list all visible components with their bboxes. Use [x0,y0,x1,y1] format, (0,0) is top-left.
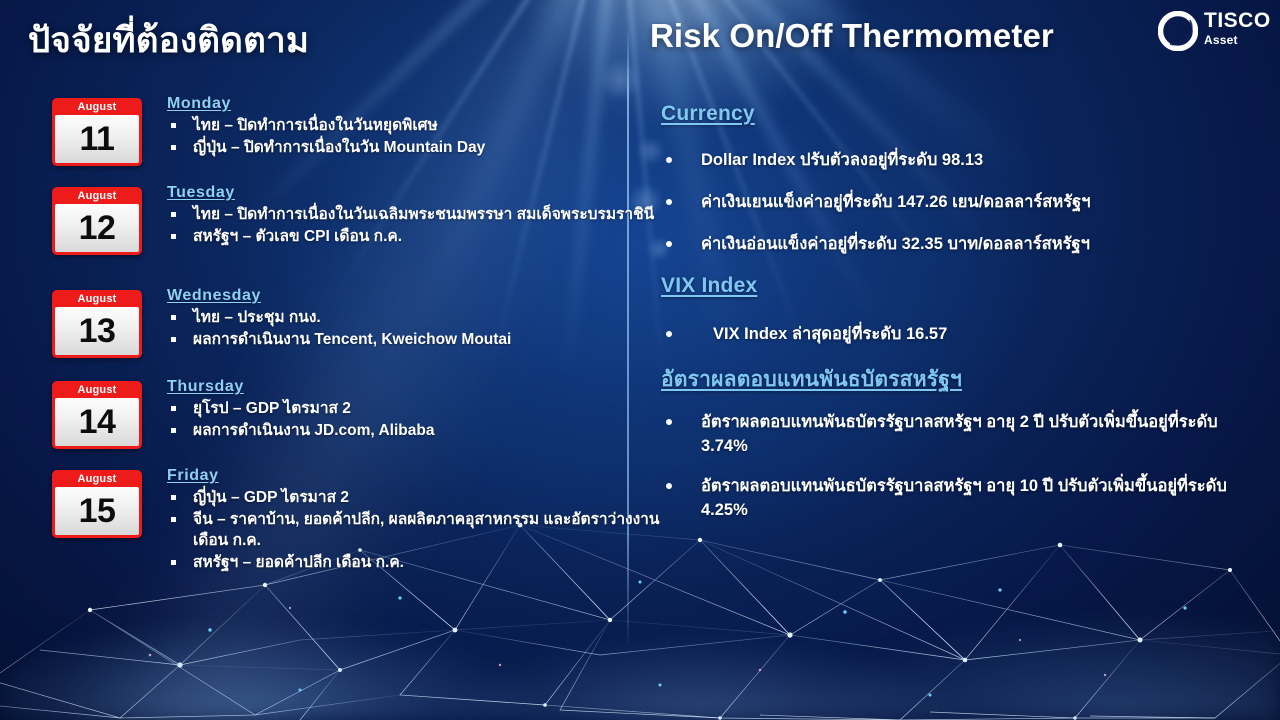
calendar-event-content: Fridayญี่ปุ่น – GDP ไตรมาส 2จีน – ราคาบ้… [167,467,667,574]
metric-list-item: อัตราผลตอบแทนพันธบัตรรัฐบาลสหรัฐฯ อายุ 1… [661,474,1236,522]
event-list-item: ไทย – ปิดทำการเนื่องในวันเฉลิมพระชนมพรรษ… [167,204,667,225]
section-heading: VIX Index [661,274,757,298]
section-heading: อัตราผลตอบแทนพันธบัตรสหรัฐฯ [661,363,962,396]
event-list-item: ไทย – ปิดทำการเนื่องในวันหยุดพิเศษ [167,115,667,136]
event-list-item: ยุโรป – GDP ไตรมาส 2 [167,398,667,419]
calendar-month-label: August [55,189,139,204]
event-list-item: ญี่ปุ่น – ปิดทำการเนื่องในวัน Mountain D… [167,137,667,158]
calendar-day-number: 13 [79,314,116,348]
calendar-month-label: August [55,100,139,115]
calendar-event-content: Tuesdayไทย – ปิดทำการเนื่องในวันเฉลิมพระ… [167,184,667,248]
calendar-month-label: August [55,292,139,307]
event-list-item: ผลการดำเนินงาน Tencent, Kweichow Moutai [167,329,667,350]
calendar-icon: August12 [52,187,142,255]
event-list-item: จีน – ราคาบ้าน, ยอดค้าปลีก, ผลผลิตภาคอุส… [167,509,667,551]
calendar-events-panel: August11Mondayไทย – ปิดทำการเนื่องในวันห… [0,0,627,720]
calendar-day-face: 11 [55,115,139,163]
event-list-item: สหรัฐฯ – ยอดค้าปลีก เดือน ก.ค. [167,552,667,573]
calendar-month-label: August [55,383,139,398]
event-list: ไทย – ประชุม กนง.ผลการดำเนินงาน Tencent,… [167,307,667,350]
calendar-icon: August14 [52,381,142,449]
event-list: ไทย – ปิดทำการเนื่องในวันหยุดพิเศษญี่ปุ่… [167,115,667,158]
weekday-heading: Friday [167,467,667,485]
calendar-event-content: Mondayไทย – ปิดทำการเนื่องในวันหยุดพิเศษ… [167,95,667,159]
metric-list-item: ค่าเงินอ่อนแข็งค่าอยู่ที่ระดับ 32.35 บาท… [661,232,1236,256]
calendar-day-number: 12 [79,211,116,245]
metric-list-item: ค่าเงินเยนแข็งค่าอยู่ที่ระดับ 147.26 เยน… [661,190,1236,214]
calendar-month-label: August [55,472,139,487]
calendar-event-content: Thursdayยุโรป – GDP ไตรมาส 2ผลการดำเนินง… [167,378,667,442]
calendar-icon: August11 [52,98,142,166]
event-list-item: ผลการดำเนินงาน JD.com, Alibaba [167,420,667,441]
event-list-item: สหรัฐฯ – ตัวเลข CPI เดือน ก.ค. [167,226,667,247]
event-list-item: ญี่ปุ่น – GDP ไตรมาส 2 [167,487,667,508]
risk-thermometer-panel: CurrencyDollar Index ปรับตัวลงอยู่ที่ระด… [627,0,1280,720]
calendar-day-number: 14 [79,405,116,439]
calendar-day-number: 15 [79,494,116,528]
calendar-day-face: 14 [55,398,139,446]
presentation-slide: TISCO Asset ปัจจัยที่ต้องติดตาม Risk On/… [0,0,1280,720]
calendar-day-face: 12 [55,204,139,252]
calendar-event-content: Wednesdayไทย – ประชุม กนง.ผลการดำเนินงาน… [167,287,667,351]
calendar-icon: August13 [52,290,142,358]
weekday-heading: Monday [167,95,667,113]
event-list-item: ไทย – ประชุม กนง. [167,307,667,328]
weekday-heading: Tuesday [167,184,667,202]
event-list: ญี่ปุ่น – GDP ไตรมาส 2จีน – ราคาบ้าน, ยอ… [167,487,667,573]
calendar-icon: August15 [52,470,142,538]
calendar-day-number: 11 [80,122,115,156]
weekday-heading: Wednesday [167,287,667,305]
event-list: ยุโรป – GDP ไตรมาส 2ผลการดำเนินงาน JD.co… [167,398,667,441]
weekday-heading: Thursday [167,378,667,396]
event-list: ไทย – ปิดทำการเนื่องในวันเฉลิมพระชนมพรรษ… [167,204,667,247]
metric-list-item: อัตราผลตอบแทนพันธบัตรรัฐบาลสหรัฐฯ อายุ 2… [661,410,1236,458]
calendar-day-face: 15 [55,487,139,535]
section-heading: Currency [661,102,755,126]
calendar-day-face: 13 [55,307,139,355]
metric-list-item: VIX Index ล่าสุดอยู่ที่ระดับ 16.57 [661,322,1236,346]
metric-list-item: Dollar Index ปรับตัวลงอยู่ที่ระดับ 98.13 [661,148,1236,172]
